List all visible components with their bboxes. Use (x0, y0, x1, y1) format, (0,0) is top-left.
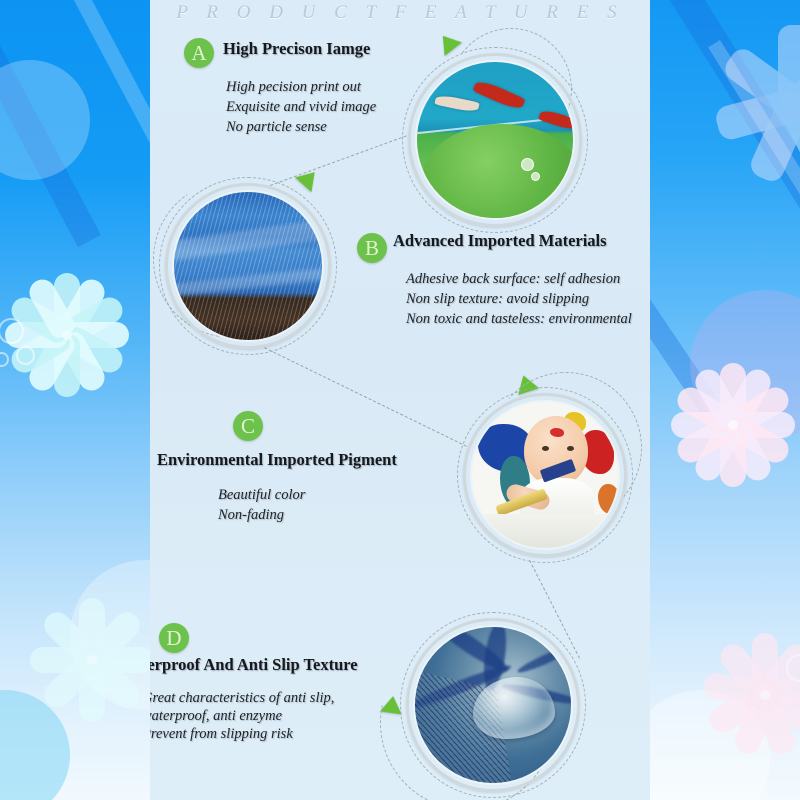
right-flower-upper (710, 20, 800, 190)
paint-dot-forehead (550, 428, 564, 437)
water-droplet-texture-photo (413, 625, 573, 785)
feature-title-c: Environmental Imported Pigment (157, 450, 397, 470)
feature-title-b: Advanced Imported Materials (393, 231, 607, 251)
koi-pond-photo (415, 60, 575, 220)
arrow-marker-a (434, 29, 462, 56)
feature-badge-a: A (184, 38, 214, 68)
feature-line-c-1: Beautiful color (218, 485, 305, 505)
baby-painting-photo (470, 400, 620, 550)
feature-line-a-3: No particle sense (226, 117, 327, 137)
blue-fabric-texture-photo (172, 190, 324, 342)
feature-line-b-2: Non slip texture: avoid slipping (406, 289, 589, 309)
feature-badge-d: D (159, 623, 189, 653)
feature-line-a-2: Exquisite and vivid image (226, 97, 376, 117)
water-bubble-2 (531, 172, 540, 181)
paint-splatter-orange (598, 484, 620, 514)
feature-line-b-3: Non toxic and tasteless: environmental (406, 309, 632, 329)
right-decoration-panel (650, 0, 800, 800)
feature-title-a: High Precison Iamge (223, 39, 370, 59)
page-title: P R O D U C T F E A T U R E S (150, 2, 650, 24)
product-features-poster: P R O D U C T F E A T U R E S A High Pre… (0, 0, 800, 800)
lily-pad (423, 124, 575, 220)
arrow-marker-b (295, 165, 323, 192)
right-flower-lower (690, 620, 800, 770)
water-bubble-1 (521, 158, 534, 171)
content-panel: P R O D U C T F E A T U R E S A High Pre… (150, 0, 650, 800)
left-flower-main (0, 260, 142, 410)
feature-line-d-3: Prevent from slipping risk (150, 724, 293, 744)
feature-line-b-1: Adhesive back surface: self adhesion (406, 269, 620, 289)
feature-line-a-1: High pecision print out (226, 77, 361, 97)
painted-floor (472, 514, 618, 548)
feature-line-c-2: Non-fading (218, 505, 284, 525)
left-flower-lower (22, 590, 150, 730)
connector-a-to-b (270, 134, 411, 186)
photo-circle-c (470, 400, 620, 550)
feature-title-d: Waterproof And Anti Slip Texture (150, 655, 358, 675)
feature-badge-b: B (357, 233, 387, 263)
photo-circle-b (172, 190, 324, 342)
feature-line-d-2: waterproof, anti enzyme (150, 706, 282, 726)
baby-eye-left (542, 446, 549, 451)
photo-circle-d (413, 625, 573, 785)
connector-b-to-c (260, 345, 467, 447)
left-decoration-panel (0, 0, 150, 800)
feature-line-d-1: Great characteristics of anti slip, (150, 688, 334, 708)
baby-eye-right (567, 446, 574, 451)
right-flower-main (658, 350, 800, 500)
photo-circle-a (415, 60, 575, 220)
feature-badge-c: C (233, 411, 263, 441)
